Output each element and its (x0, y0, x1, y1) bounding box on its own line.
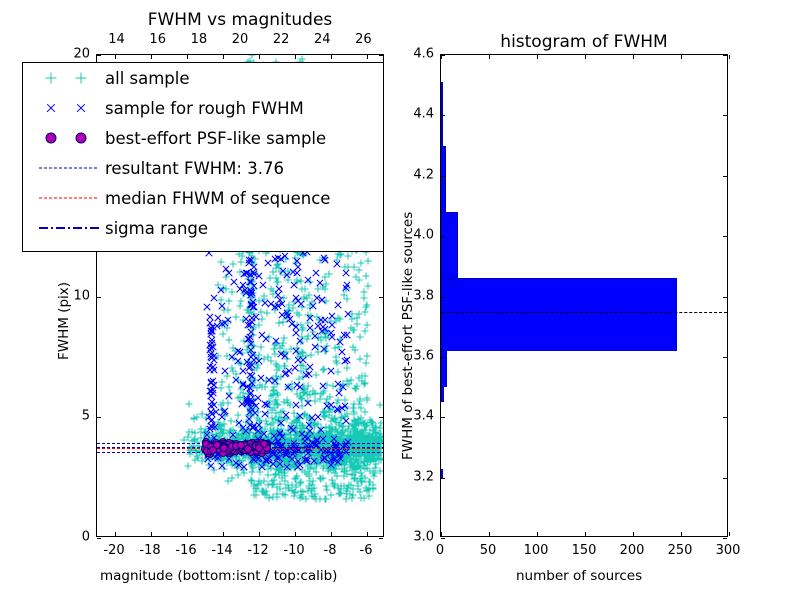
rough-sample-point (294, 355, 303, 364)
rough-sample-point (342, 281, 351, 290)
hist-x-ticklabel: 250 (668, 543, 693, 558)
legend: all samplesample for rough FWHMbest-effo… (22, 62, 384, 252)
all-sample-point (270, 493, 277, 500)
rough-sample-point (230, 278, 239, 287)
rough-sample-point (326, 461, 335, 470)
all-sample-point (260, 489, 267, 496)
hist-x-tick (585, 532, 586, 536)
all-sample-point (350, 492, 357, 499)
hist-y-ticklabel: 4.4 (396, 107, 434, 122)
rough-sample-point (342, 268, 351, 277)
rough-sample-point (336, 338, 345, 347)
hist-y-tick-right (723, 236, 727, 237)
hist-y-ticklabel: 3.4 (396, 409, 434, 424)
rough-sample-point (246, 345, 255, 354)
top-x-ticklabel: 16 (149, 32, 166, 47)
hist-y-ticklabel: 4.2 (396, 167, 434, 182)
all-sample-point (347, 463, 354, 470)
legend-label: all sample (105, 69, 190, 88)
all-sample-point (365, 257, 372, 264)
rough-sample-point (231, 376, 240, 385)
y-tick (97, 55, 101, 56)
all-sample-point (258, 344, 265, 351)
y-ticklabel: 10 (54, 288, 90, 303)
rough-sample-point (209, 323, 218, 332)
legend-row: resultant FWHM: 3.76 (31, 153, 383, 183)
all-sample-point (361, 408, 368, 415)
hist-x-tick-top (633, 55, 634, 59)
x-ticklabel: -12 (247, 543, 268, 558)
all-sample-point (361, 288, 368, 295)
rough-sample-point (205, 312, 214, 321)
rough-sample-point (225, 269, 234, 278)
all-sample-point (219, 423, 226, 430)
rough-sample-point (292, 401, 301, 410)
rough-sample-point (311, 343, 320, 352)
all-sample-point (265, 354, 272, 361)
legend-sample (31, 183, 105, 213)
rough-sample-point (246, 287, 255, 296)
all-sample-point (370, 485, 377, 492)
all-sample-point (228, 289, 235, 296)
rough-sample-point (338, 383, 347, 392)
circle-icon (76, 133, 87, 144)
hist-x-tick-top (729, 55, 730, 59)
all-sample-point (366, 468, 373, 475)
hist-x-ticklabel: 0 (436, 543, 444, 558)
rough-sample-point (247, 300, 256, 309)
y-tick (97, 417, 101, 418)
all-sample-point (250, 464, 257, 471)
all-sample-point (275, 319, 282, 326)
all-sample-point (361, 294, 368, 301)
all-sample-point (375, 455, 382, 462)
rough-sample-point (244, 414, 253, 423)
rough-sample-point (228, 431, 237, 440)
rough-sample-point (207, 402, 216, 411)
all-sample-point (335, 368, 342, 375)
all-sample-point (353, 382, 360, 389)
rough-sample-point (258, 462, 267, 471)
histogram-bar (441, 469, 443, 478)
all-sample-point (352, 274, 359, 281)
rough-sample-point (246, 395, 255, 404)
all-sample-point (330, 481, 337, 488)
hist-y-ticklabel: 3.0 (396, 530, 434, 545)
all-sample-point (303, 495, 310, 502)
legend-sample (31, 93, 105, 123)
legend-row: median FHWM of sequence (31, 183, 383, 213)
all-sample-point (300, 488, 307, 495)
all-sample-point (261, 383, 268, 390)
histogram-bar (441, 146, 446, 212)
hist-x-ticklabel: 300 (716, 543, 741, 558)
histogram-plot-area (441, 55, 727, 536)
x-ticklabel: -16 (175, 543, 196, 558)
hist-y-tick-right (723, 478, 727, 479)
rough-sample-point (281, 352, 290, 361)
all-sample-point (323, 496, 330, 503)
all-sample-point (356, 311, 363, 318)
hist-x-tick-top (585, 55, 586, 59)
legend-sample (31, 123, 105, 153)
all-sample-point (292, 474, 299, 481)
x-ticklabel: -10 (283, 543, 304, 558)
top-x-ticklabel: 24 (314, 32, 331, 47)
rough-sample-point (283, 383, 292, 392)
hist-y-tick (441, 176, 445, 177)
rough-sample-point (260, 410, 269, 419)
rough-sample-point (245, 277, 254, 286)
hist-x-tick (537, 532, 538, 536)
rough-sample-point (234, 356, 243, 365)
rough-sample-point (274, 290, 283, 299)
all-sample-point (283, 397, 290, 404)
all-sample-point (258, 480, 265, 487)
hist-y-tick (441, 297, 445, 298)
rough-sample-point (261, 399, 270, 408)
rough-sample-point (248, 361, 257, 370)
rough-sample-point (311, 332, 320, 341)
all-sample-point (356, 334, 363, 341)
all-sample-point (362, 272, 369, 279)
hist-x-tick (729, 532, 730, 536)
x-tick (115, 532, 116, 536)
all-sample-point (293, 484, 300, 491)
all-sample-point (360, 420, 367, 427)
all-sample-point (364, 352, 371, 359)
rough-sample-point (249, 263, 258, 272)
hist-x-ticklabel: 100 (524, 543, 549, 558)
rough-sample-point (248, 423, 257, 432)
rough-sample-point (224, 316, 233, 325)
legend-label: median FHWM of sequence (105, 189, 330, 208)
all-sample-point (364, 302, 371, 309)
all-sample-point (362, 360, 369, 367)
rough-sample-point (323, 402, 332, 411)
all-sample-point (265, 481, 272, 488)
hist-x-tick (681, 532, 682, 536)
all-sample-point (308, 351, 315, 358)
rough-sample-point (207, 422, 216, 431)
rough-sample-point (304, 399, 313, 408)
all-sample-point (376, 401, 383, 408)
x-tick-top-mirror (151, 55, 152, 59)
hist-x-tick-top (681, 55, 682, 59)
all-sample-point (329, 423, 336, 430)
y-tick-right-mirror (379, 55, 383, 56)
rough-sample-point (328, 312, 337, 321)
rough-sample-point (317, 425, 326, 434)
hist-y-tick-right (723, 538, 727, 539)
x-tick (223, 532, 224, 536)
all-sample-point (248, 477, 255, 484)
rough-sample-point (315, 279, 324, 288)
all-sample-point (362, 328, 369, 335)
rough-sample-point (292, 268, 301, 277)
rough-sample-point (240, 462, 249, 471)
rough-sample-point (210, 366, 219, 375)
legend-sample (31, 213, 105, 243)
y-tick (97, 297, 101, 298)
all-sample-point (185, 401, 192, 408)
legend-label: sigma range (105, 219, 208, 238)
hist-y-tick (441, 115, 445, 116)
all-sample-point (356, 400, 363, 407)
histogram-bar (441, 212, 458, 278)
rough-sample-point (277, 432, 286, 441)
all-sample-point (358, 478, 365, 485)
hist-x-tick (489, 532, 490, 536)
hist-x-ticklabel: 150 (572, 543, 597, 558)
histogram-axes (440, 54, 728, 537)
legend-row: sample for rough FWHM (31, 93, 383, 123)
rough-sample-point (206, 340, 215, 349)
rough-sample-point (300, 432, 309, 441)
rough-sample-point (317, 315, 326, 324)
figure-root: FWHM vs magnitudes magnitude (bottom:isn… (0, 0, 800, 600)
hist-y-ticklabel: 3.6 (396, 348, 434, 363)
rough-sample-point (271, 303, 280, 312)
hist-y-ticklabel: 3.2 (396, 469, 434, 484)
rough-sample-point (282, 309, 291, 318)
rough-sample-point (218, 413, 227, 422)
histogram-title: histogram of FWHM (500, 32, 667, 52)
x-tick (151, 532, 152, 536)
all-sample-point (345, 253, 352, 260)
hist-y-tick (441, 236, 445, 237)
hist-x-ticklabel: 50 (480, 543, 497, 558)
rough-sample-point (344, 310, 353, 319)
rough-sample-point (320, 253, 329, 262)
rough-sample-point (202, 302, 211, 311)
all-sample-point (273, 400, 280, 407)
x-ticklabel: -8 (324, 543, 337, 558)
x-tick-top-mirror (187, 55, 188, 59)
rough-sample-point (210, 294, 219, 303)
psf-sample-point (220, 444, 228, 452)
y-tick-right-mirror (379, 417, 383, 418)
rough-sample-point (313, 412, 322, 421)
rough-sample-point (287, 424, 296, 433)
rough-sample-point (207, 354, 216, 363)
rough-sample-point (258, 331, 267, 340)
rough-sample-point (305, 314, 314, 323)
top-x-ticklabel: 14 (108, 32, 125, 47)
dashdot-line-icon (39, 227, 97, 229)
legend-label: sample for rough FWHM (105, 99, 304, 118)
rough-sample-point (276, 419, 285, 428)
hist-y-tick (441, 478, 445, 479)
rough-sample-point (264, 375, 273, 384)
rough-sample-point (295, 336, 304, 345)
histogram-xlabel: number of sources (516, 568, 642, 584)
all-sample-point (298, 286, 305, 293)
legend-sample (31, 63, 105, 93)
rough-sample-point (291, 346, 300, 355)
x-tick-top-mirror (259, 55, 260, 59)
all-sample-point (228, 474, 235, 481)
rough-sample-point (318, 455, 327, 464)
hist-y-tick-right (723, 55, 727, 56)
top-x-ticklabel: 26 (355, 32, 372, 47)
y-tick (97, 538, 101, 539)
hist-x-tick (441, 532, 442, 536)
rough-sample-point (296, 382, 305, 391)
all-sample-point (283, 484, 290, 491)
hist-y-tick-right (723, 176, 727, 177)
all-sample-point (317, 475, 324, 482)
all-sample-point (280, 334, 287, 341)
all-sample-point (341, 469, 348, 476)
rough-sample-point (243, 334, 252, 343)
rough-sample-point (341, 357, 350, 366)
x-tick-top-mirror (367, 55, 368, 59)
top-x-ticklabel: 20 (232, 32, 249, 47)
rough-sample-point (295, 411, 304, 420)
hist-y-tick (441, 417, 445, 418)
all-sample-point (313, 371, 320, 378)
dashed-line-icon (39, 198, 97, 199)
circle-icon (46, 133, 57, 144)
x-ticklabel: -18 (139, 543, 160, 558)
rough-sample-point (326, 367, 335, 376)
all-sample-point (312, 491, 319, 498)
rough-sample-point (304, 369, 313, 378)
all-sample-point (364, 396, 371, 403)
all-sample-point (228, 418, 235, 425)
x-tick (367, 532, 368, 536)
histogram-hline (441, 312, 727, 313)
y-ticklabel: 0 (54, 530, 90, 545)
rough-sample-point (320, 345, 329, 354)
rough-sample-point (278, 266, 287, 275)
scatter-xlabel: magnitude (bottom:isnt / top:calib) (100, 568, 337, 584)
all-sample-point (303, 470, 310, 477)
all-sample-point (237, 298, 244, 305)
hist-y-tick-right (723, 297, 727, 298)
all-sample-point (350, 343, 357, 350)
rough-sample-point (259, 281, 268, 290)
histogram-bar (441, 82, 443, 85)
rough-sample-point (218, 301, 227, 310)
hist-y-tick (441, 55, 445, 56)
hist-y-tick (441, 357, 445, 358)
x-tick (259, 532, 260, 536)
hist-y-tick-right (723, 417, 727, 418)
hist-y-ticklabel: 4.6 (396, 47, 434, 62)
x-tick (187, 532, 188, 536)
legend-label: best-effort PSF-like sample (105, 129, 326, 148)
rough-sample-point (290, 281, 299, 290)
histogram-bar (441, 387, 444, 402)
all-sample-point (191, 429, 198, 436)
hist-y-tick (441, 538, 445, 539)
x-tick-top-mirror (331, 55, 332, 59)
rough-sample-point (292, 293, 301, 302)
rough-sample-point (334, 301, 343, 310)
x-tick-top-mirror (223, 55, 224, 59)
all-sample-point (358, 259, 365, 266)
all-sample-point (355, 375, 362, 382)
rough-sample-point (272, 336, 281, 345)
rough-sample-point (224, 391, 233, 400)
rough-sample-point (321, 324, 330, 333)
rough-sample-point (207, 378, 216, 387)
y-tick-right-mirror (379, 297, 383, 298)
all-sample-point (225, 336, 232, 343)
x-ticklabel: -14 (211, 543, 232, 558)
x-tick-top-mirror (295, 55, 296, 59)
rough-sample-point (259, 429, 268, 438)
all-sample-point (362, 308, 369, 315)
rough-sample-point (337, 404, 346, 413)
all-sample-point (274, 389, 281, 396)
all-sample-point (190, 415, 197, 422)
histogram-bar (441, 278, 677, 350)
plus-icon (46, 73, 57, 84)
rough-sample-point (284, 366, 293, 375)
rough-sample-point (312, 294, 321, 303)
x-tick (295, 532, 296, 536)
x-tick-top-mirror (115, 55, 116, 59)
scatter-title: FWHM vs magnitudes (148, 10, 333, 30)
hist-x-tick (633, 532, 634, 536)
rough-sample-point (319, 381, 328, 390)
psf-sample-point (255, 444, 263, 452)
all-sample-point (366, 492, 373, 499)
y-ticklabel: 20 (54, 47, 90, 62)
plus-icon (76, 73, 87, 84)
legend-row: all sample (31, 63, 383, 93)
legend-sample (31, 153, 105, 183)
rough-sample-point (328, 332, 337, 341)
hist-x-tick-top (489, 55, 490, 59)
top-x-ticklabel: 18 (191, 32, 208, 47)
all-sample-point (351, 416, 358, 423)
rough-sample-point (246, 320, 255, 329)
rough-sample-point (304, 275, 313, 284)
hist-y-ticklabel: 4.0 (396, 228, 434, 243)
all-sample-point (355, 485, 362, 492)
all-sample-point (267, 422, 274, 429)
legend-row: sigma range (31, 213, 383, 243)
rough-sample-point (276, 255, 285, 264)
hist-y-tick-right (723, 357, 727, 358)
hist-x-tick-top (537, 55, 538, 59)
rough-sample-point (332, 259, 341, 268)
legend-row: best-effort PSF-like sample (31, 123, 383, 153)
x-ticklabel: -20 (103, 543, 124, 558)
dashed-line-icon (39, 168, 97, 169)
all-sample-point (232, 314, 239, 321)
rough-sample-point (337, 348, 346, 357)
top-x-ticklabel: 22 (273, 32, 290, 47)
rough-sample-point (303, 455, 312, 464)
rough-sample-point (342, 417, 351, 426)
hist-y-ticklabel: 3.8 (396, 288, 434, 303)
x-ticklabel: -6 (360, 543, 373, 558)
hist-y-tick-right (723, 115, 727, 116)
y-ticklabel: 5 (54, 409, 90, 424)
x-tick (331, 532, 332, 536)
rough-sample-point (220, 366, 229, 375)
cross-icon (76, 103, 87, 114)
all-sample-point (360, 381, 367, 388)
rough-sample-point (294, 457, 303, 466)
cross-icon (46, 103, 57, 114)
legend-label: resultant FWHM: 3.76 (105, 159, 284, 178)
